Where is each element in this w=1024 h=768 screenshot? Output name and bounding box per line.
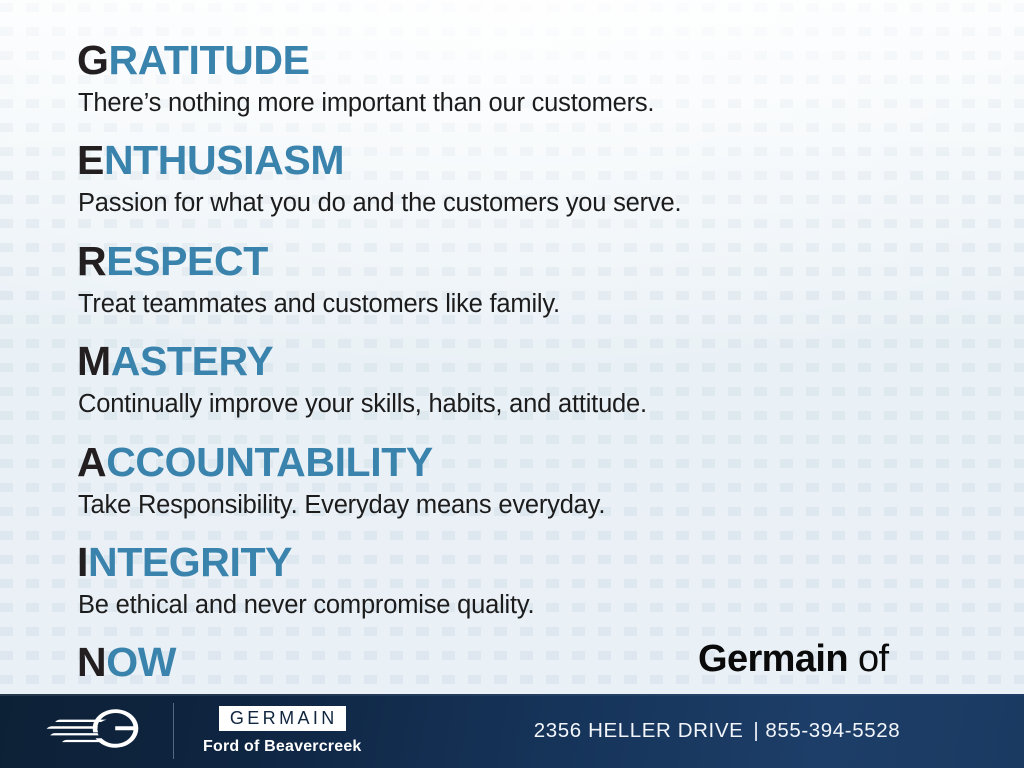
value-description: There’s nothing more important than our … [78,91,654,117]
value-description: Take Responsibility. Everyday means ever… [78,493,605,519]
value-initial: N [77,639,106,685]
value-heading: ACCOUNTABILITY [77,442,605,483]
value-initial: G [77,37,109,83]
value-heading: GRATITUDE [77,40,654,81]
dealer-wordmark-light: of [858,638,889,680]
value-item-gratitude: GRATITUDE There’s nothing more important… [77,40,654,117]
value-description: Treat teammates and customers like famil… [78,292,560,318]
value-item-accountability: ACCOUNTABILITY Take Responsibility. Ever… [77,442,605,519]
value-description: Continually improve your skills, habits,… [78,392,647,418]
value-rest: CCOUNTABILITY [106,439,433,485]
value-rest: RATITUDE [109,37,310,83]
value-initial: E [77,137,104,183]
value-heading: MASTERY [77,341,647,382]
values-slide: GRATITUDE There’s nothing more important… [0,0,1024,768]
value-heading: RESPECT [77,241,560,282]
value-heading: ENTHUSIASM [77,140,681,181]
value-item-integrity: INTEGRITY Be ethical and never compromis… [77,542,534,619]
value-initial: I [77,539,88,585]
dealer-wordmark-strong: Germain [698,638,848,680]
value-item-respect: RESPECT Treat teammates and customers li… [77,241,560,318]
value-item-now: NOW [77,642,176,683]
value-initial: A [77,439,106,485]
value-rest: OW [106,639,176,685]
bottom-banner: GERMAIN Ford of Beavercreek 2356 HELLER … [0,694,1024,768]
dealer-address: 2356 HELLER DRIVE [534,719,744,743]
value-heading: NOW [77,642,176,683]
value-rest: ASTERY [111,338,273,384]
dealer-wordmark: Germain of [698,639,888,680]
value-item-mastery: MASTERY Continually improve your skills,… [77,341,647,418]
value-initial: M [77,338,111,384]
dealer-phone[interactable]: 855-394-5528 [765,719,900,743]
value-rest: NTHUSIASM [104,137,344,183]
value-rest: NTEGRITY [88,539,292,585]
values-list: GRATITUDE There’s nothing more important… [0,0,1024,694]
value-initial: R [77,238,106,284]
contact-separator: | [743,719,765,743]
value-description: Passion for what you do and the customer… [78,191,681,217]
value-item-enthusiasm: ENTHUSIASM Passion for what you do and t… [77,140,681,217]
value-rest: ESPECT [106,238,268,284]
banner-contact-info: 2356 HELLER DRIVE | 855-394-5528 [0,694,1024,768]
value-description: Be ethical and never compromise quality. [78,593,534,619]
value-heading: INTEGRITY [77,542,534,583]
